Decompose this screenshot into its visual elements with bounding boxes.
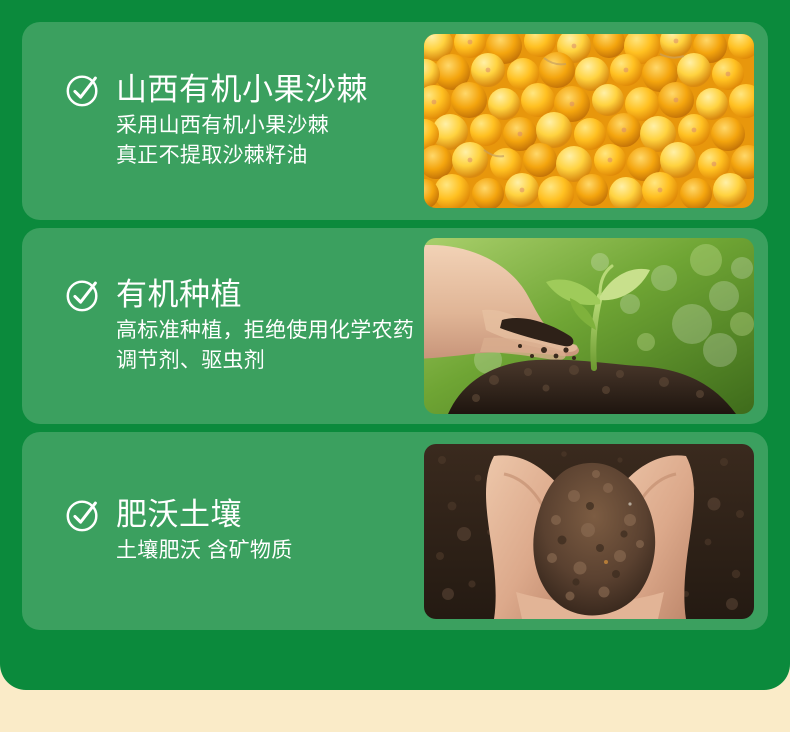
feature-card-title: 山西有机小果沙棘 <box>116 72 368 108</box>
soil-hands-illustration <box>424 444 754 619</box>
feature-card[interactable]: 肥沃土壤 土壤肥沃 含矿物质 <box>22 432 768 630</box>
feature-card-description-line: 土壤肥沃 含矿物质 <box>116 536 408 566</box>
sea-buckthorn-berries-photo <box>424 34 754 208</box>
berries-illustration <box>424 34 754 208</box>
hands-holding-soil-photo <box>424 444 754 619</box>
feature-card-title-row: 有机种植 <box>64 276 408 314</box>
seedling-illustration <box>424 238 754 414</box>
page-root: 山西有机小果沙棘 采用山西有机小果沙棘 真正不提取沙棘籽油 <box>0 0 790 732</box>
feature-card-title-row: 肥沃土壤 <box>64 496 408 534</box>
bottom-cream-strip <box>0 690 790 732</box>
feature-card[interactable]: 山西有机小果沙棘 采用山西有机小果沙棘 真正不提取沙棘籽油 <box>22 22 768 220</box>
check-circle-icon <box>64 71 102 109</box>
feature-card-description-line: 采用山西有机小果沙棘 <box>116 111 408 141</box>
feature-card-description: 高标准种植，拒绝使用化学农药 调节剂、驱虫剂 <box>116 316 408 376</box>
feature-card-description: 土壤肥沃 含矿物质 <box>116 536 408 566</box>
check-circle-icon <box>64 496 102 534</box>
feature-card-description-line: 真正不提取沙棘籽油 <box>116 141 408 171</box>
feature-panel: 山西有机小果沙棘 采用山西有机小果沙棘 真正不提取沙棘籽油 <box>0 0 790 690</box>
feature-card-description: 采用山西有机小果沙棘 真正不提取沙棘籽油 <box>116 111 408 171</box>
hand-planting-seedling-photo <box>424 238 754 414</box>
feature-card-text: 有机种植 高标准种植，拒绝使用化学农药 调节剂、驱虫剂 <box>64 228 408 424</box>
feature-card[interactable]: 有机种植 高标准种植，拒绝使用化学农药 调节剂、驱虫剂 <box>22 228 768 424</box>
feature-card-text: 山西有机小果沙棘 采用山西有机小果沙棘 真正不提取沙棘籽油 <box>64 22 408 220</box>
check-circle-icon <box>64 276 102 314</box>
feature-card-title: 肥沃土壤 <box>116 497 242 533</box>
feature-card-description-line: 高标准种植，拒绝使用化学农药 <box>116 316 408 346</box>
feature-card-text: 肥沃土壤 土壤肥沃 含矿物质 <box>64 432 408 630</box>
feature-card-title: 有机种植 <box>116 277 242 313</box>
feature-card-description-line: 调节剂、驱虫剂 <box>116 346 408 376</box>
feature-card-title-row: 山西有机小果沙棘 <box>64 71 408 109</box>
